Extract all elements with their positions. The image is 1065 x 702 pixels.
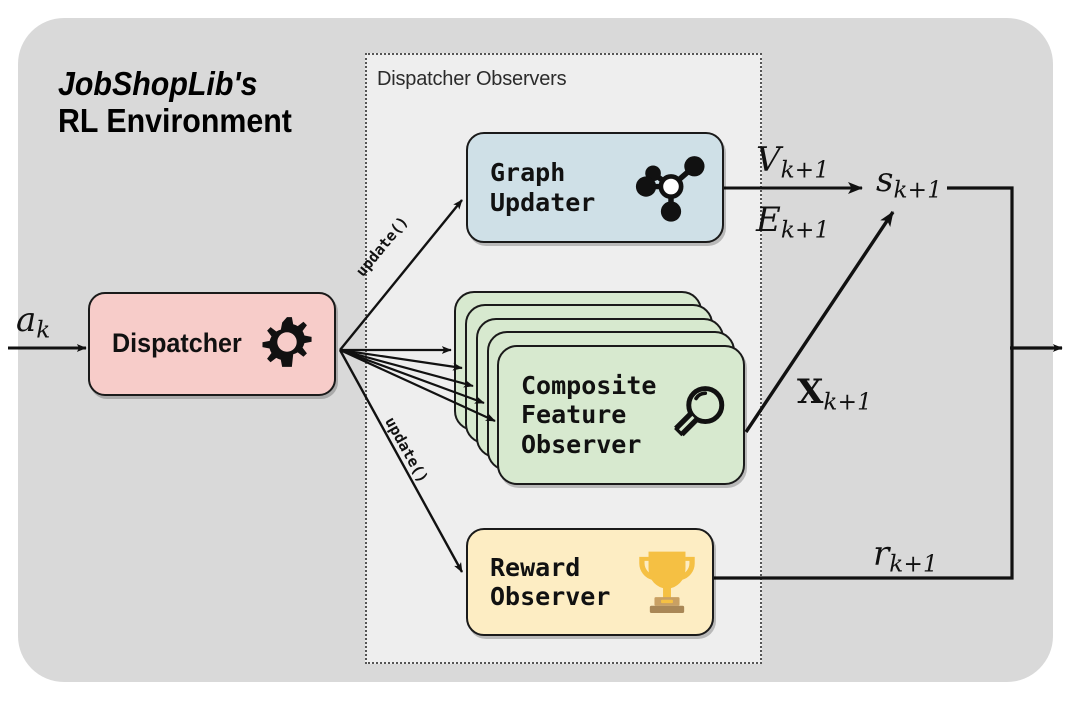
reward-observer-label: Reward Observer (490, 553, 610, 612)
node-reward-observer[interactable]: Reward Observer (466, 528, 714, 636)
label-graph-nodes: Vk+1 (756, 140, 829, 183)
label-graph-nodes-base: V (756, 140, 781, 180)
magnifying-glass-icon (667, 380, 733, 451)
label-action-in-sub: k (36, 317, 50, 343)
dispatcher-observers-label: Dispatcher Observers (377, 68, 566, 91)
label-graph-edges-base: E (756, 200, 781, 240)
graph-network-icon (632, 146, 710, 229)
title-line-2: RL Environment (58, 103, 334, 140)
label-graph-edges-sub: k+1 (781, 217, 830, 243)
label-features-sub: k+1 (823, 389, 872, 415)
composite-feature-observer-label: Composite Feature Observer (521, 371, 656, 460)
gear-icon (260, 315, 314, 374)
title-line-1: JobShopLib's (58, 66, 334, 103)
label-state-out: sk+1 (876, 160, 942, 203)
label-graph-edges: Ek+1 (756, 200, 830, 243)
label-action-in: ak (16, 300, 51, 343)
dispatcher-label: Dispatcher (112, 328, 242, 360)
page-title: JobShopLib's RL Environment (58, 66, 358, 140)
graph-updater-label: Graph Updater (490, 158, 595, 217)
label-features: Xk+1 (797, 372, 872, 415)
label-state-out-sub: k+1 (893, 177, 942, 203)
label-reward-out-base: r (873, 534, 889, 574)
label-graph-nodes-sub: k+1 (781, 157, 830, 183)
diagram-canvas: Dispatcher Observers JobShopLib's RL Env… (0, 0, 1065, 702)
trophy-icon (634, 545, 700, 620)
label-state-out-base: s (876, 160, 893, 200)
label-action-in-base: a (16, 300, 36, 340)
node-dispatcher[interactable]: Dispatcher (88, 292, 336, 396)
label-features-base: X (797, 372, 823, 412)
label-reward-out: rk+1 (873, 534, 938, 577)
label-reward-out-sub: k+1 (889, 551, 938, 577)
node-composite-feature-observer[interactable]: Composite Feature Observer (497, 345, 745, 485)
node-graph-updater[interactable]: Graph Updater (466, 132, 724, 243)
